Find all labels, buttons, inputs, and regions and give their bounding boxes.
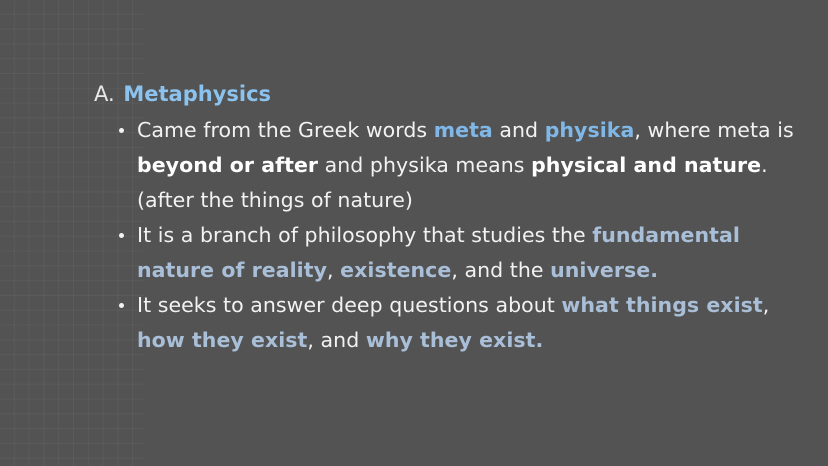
list-item: Came from the Greek words meta and physi… bbox=[0, 113, 828, 218]
text-run: , and the bbox=[451, 258, 550, 282]
text-run: , and bbox=[307, 328, 365, 352]
heading-title: Metaphysics bbox=[123, 82, 271, 106]
text-run: and physika means bbox=[318, 153, 531, 177]
presentation-slide: A. Metaphysics Came from the Greek words… bbox=[0, 0, 828, 466]
text-run: , bbox=[327, 258, 340, 282]
bullet-dot-icon bbox=[119, 128, 124, 133]
emphasis-run: universe. bbox=[550, 258, 658, 282]
text-run: It seeks to answer deep questions about bbox=[137, 293, 561, 317]
list-item: It seeks to answer deep questions about … bbox=[0, 288, 828, 358]
emphasis-run: what things exist bbox=[561, 293, 762, 317]
bullet-dot-icon bbox=[119, 233, 124, 238]
emphasis-run: beyond or after bbox=[137, 153, 318, 177]
emphasis-run: meta bbox=[434, 118, 493, 142]
text-run: and bbox=[493, 118, 545, 142]
list-item: It is a branch of philosophy that studie… bbox=[0, 218, 828, 288]
bullet-dot-icon bbox=[119, 303, 124, 308]
heading-marker: A. bbox=[94, 82, 115, 106]
emphasis-run: existence bbox=[340, 258, 451, 282]
emphasis-run: physical and nature bbox=[531, 153, 761, 177]
text-run: It is a branch of philosophy that studie… bbox=[137, 223, 592, 247]
emphasis-run: why they exist. bbox=[366, 328, 544, 352]
text-run: , bbox=[763, 293, 770, 317]
page-title: A. Metaphysics bbox=[94, 80, 271, 108]
slide-content: A. Metaphysics Came from the Greek words… bbox=[0, 0, 828, 466]
emphasis-run: how they exist bbox=[137, 328, 307, 352]
bullet-list: Came from the Greek words meta and physi… bbox=[0, 113, 828, 358]
emphasis-run: physika bbox=[545, 118, 635, 142]
text-run: , where meta is bbox=[634, 118, 793, 142]
text-run: Came from the Greek words bbox=[137, 118, 434, 142]
